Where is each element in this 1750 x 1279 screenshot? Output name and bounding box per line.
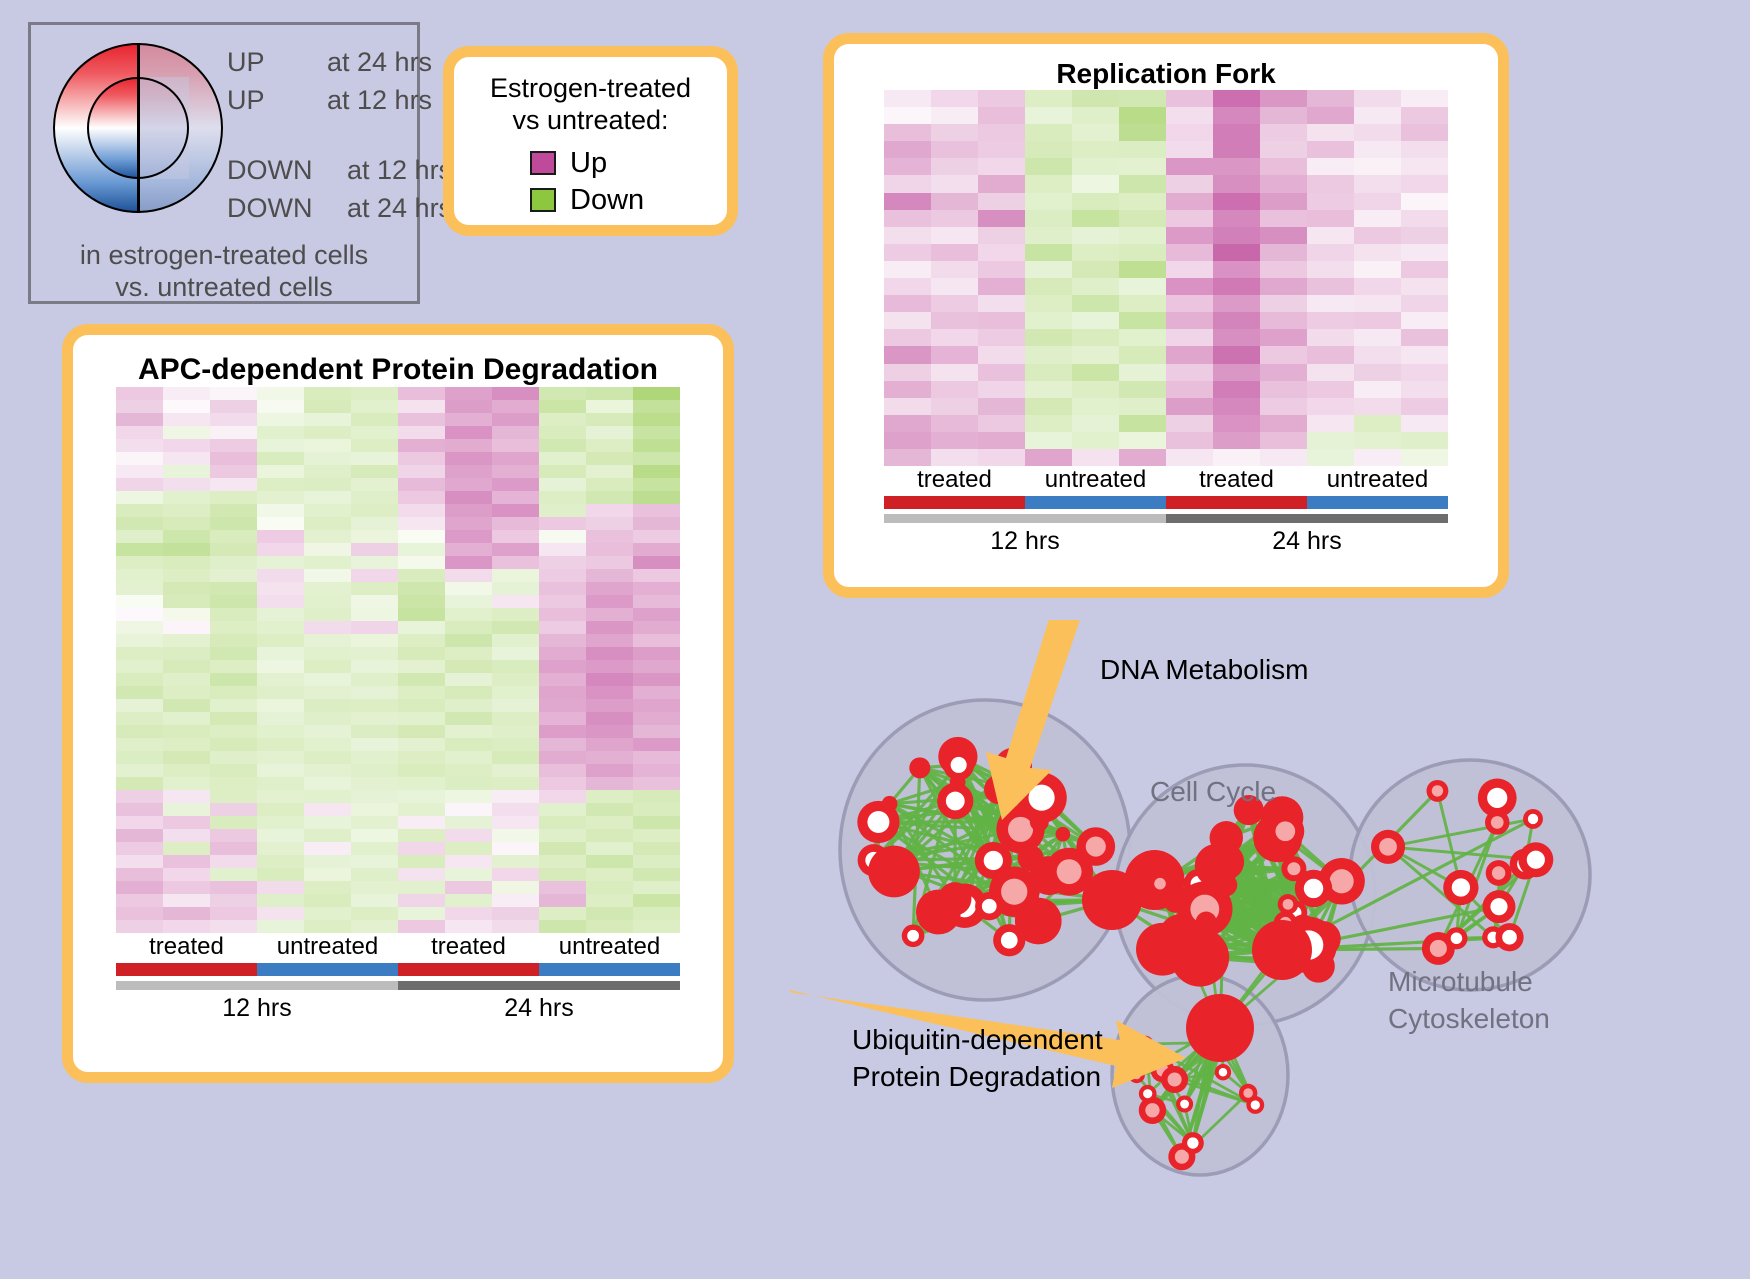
heatmap-cell — [351, 803, 398, 816]
heatmap-cell — [1307, 175, 1354, 192]
heatmap-cell — [304, 868, 351, 881]
heatmap-cell — [304, 764, 351, 777]
heatmap-cell — [257, 751, 304, 764]
heatmap-cell — [931, 364, 978, 381]
replication-fork-heatmap — [884, 90, 1448, 466]
heatmap-cell — [304, 387, 351, 400]
treatment-bar-row — [116, 963, 680, 976]
heatmap-cell — [351, 634, 398, 647]
heatmap-cell — [1072, 141, 1119, 158]
heatmap-cell — [210, 504, 257, 517]
heatmap-cell — [304, 400, 351, 413]
heatmap-cell — [1119, 261, 1166, 278]
legend-direction-0: UP — [227, 47, 265, 78]
heatmap-cell — [210, 660, 257, 673]
heatmap-cell — [1354, 107, 1401, 124]
pathway-network-diagram: DNA MetabolismCell CycleMicrotubuleCytos… — [790, 620, 1750, 1279]
heatmap-cell — [1307, 415, 1354, 432]
heatmap-cell — [1401, 175, 1448, 192]
heatmap-cell — [1025, 449, 1072, 466]
network-node-center — [1527, 851, 1545, 869]
heatmap-cell — [1213, 158, 1260, 175]
heatmap-cell — [1354, 158, 1401, 175]
heatmap-cell — [492, 738, 539, 751]
network-cluster-label: Cell Cycle — [1150, 775, 1276, 809]
heatmap-cell — [163, 426, 210, 439]
heatmap-cell — [539, 920, 586, 933]
timepoint-label-row: 12 hrs24 hrs — [116, 994, 680, 1023]
heatmap-cell — [1166, 141, 1213, 158]
heatmap-cell — [492, 855, 539, 868]
heatmap-cell — [398, 426, 445, 439]
heatmap-cell — [351, 439, 398, 452]
heatmap-cell — [633, 751, 680, 764]
heatmap-cell — [398, 413, 445, 426]
heatmap-cell — [1260, 329, 1307, 346]
heatmap-cell — [210, 842, 257, 855]
network-node[interactable] — [1252, 920, 1312, 980]
heatmap-cell — [539, 673, 586, 686]
heatmap-cell — [163, 504, 210, 517]
group-label-row: treateduntreatedtreateduntreated — [884, 466, 1448, 494]
heatmap-cell — [633, 556, 680, 569]
heatmap-cell — [1354, 90, 1401, 107]
heatmap-cell — [884, 90, 931, 107]
heatmap-cell — [116, 725, 163, 738]
heatmap-cell — [304, 673, 351, 686]
heatmap-cell — [116, 621, 163, 634]
heatmap-cell — [1166, 312, 1213, 329]
apc-axis: treateduntreatedtreateduntreated12 hrs24… — [116, 933, 680, 1023]
heatmap-cell — [1401, 141, 1448, 158]
heatmap-cell — [304, 569, 351, 582]
heatmap-cell — [351, 725, 398, 738]
timepoint-bar — [116, 981, 398, 990]
heatmap-cell — [304, 790, 351, 803]
heatmap-cell — [210, 582, 257, 595]
network-node[interactable] — [1018, 845, 1044, 871]
heatmap-cell — [1260, 210, 1307, 227]
heatmap-cell — [1260, 124, 1307, 141]
heatmap-cell — [116, 556, 163, 569]
heatmap-cell — [116, 543, 163, 556]
heatmap-cell — [257, 712, 304, 725]
heatmap-cell — [978, 124, 1025, 141]
heatmap-cell — [931, 90, 978, 107]
network-node-center — [982, 899, 997, 914]
heatmap-cell — [304, 907, 351, 920]
network-node[interactable] — [1201, 859, 1225, 883]
heatmap-cell — [445, 725, 492, 738]
heatmap-cell — [398, 387, 445, 400]
heatmap-cell — [304, 699, 351, 712]
heatmap-cell — [445, 920, 492, 933]
heatmap-cell — [210, 894, 257, 907]
heatmap-cell — [978, 415, 1025, 432]
heatmap-cell — [492, 790, 539, 803]
network-node-center — [1491, 816, 1504, 829]
heatmap-cell — [210, 569, 257, 582]
heatmap-cell — [398, 621, 445, 634]
heatmap-cell — [586, 868, 633, 881]
heatmap-cell — [257, 543, 304, 556]
heatmap-cell — [351, 764, 398, 777]
heatmap-cell — [210, 413, 257, 426]
heatmap-cell — [978, 193, 1025, 210]
heatmap-cell — [1354, 295, 1401, 312]
heatmap-cell — [539, 413, 586, 426]
heatmap-cell — [1260, 261, 1307, 278]
key-item-down: Down — [530, 184, 727, 217]
heatmap-cell — [304, 504, 351, 517]
replication-fork-panel: Replication Fork treateduntreatedtreated… — [823, 33, 1509, 598]
heatmap-cell — [398, 569, 445, 582]
heatmap-cell — [978, 278, 1025, 295]
heatmap-cell — [1213, 175, 1260, 192]
heatmap-cell — [445, 660, 492, 673]
up-down-key-panel: Estrogen-treated vs untreated: Up Down — [443, 46, 738, 236]
heatmap-cell — [492, 439, 539, 452]
heatmap-cell — [163, 413, 210, 426]
heatmap-cell — [163, 400, 210, 413]
heatmap-cell — [586, 595, 633, 608]
heatmap-cell — [586, 907, 633, 920]
network-node-center — [1180, 1100, 1189, 1109]
heatmap-cell — [492, 465, 539, 478]
heatmap-cell — [351, 894, 398, 907]
heatmap-cell — [633, 855, 680, 868]
heatmap-cell — [931, 449, 978, 466]
heatmap-cell — [163, 660, 210, 673]
heatmap-cell — [884, 432, 931, 449]
heatmap-cell — [351, 387, 398, 400]
heatmap-cell — [445, 790, 492, 803]
heatmap-cell — [978, 364, 1025, 381]
heatmap-cell — [257, 764, 304, 777]
network-node-center — [1219, 1068, 1227, 1076]
heatmap-cell — [445, 738, 492, 751]
heatmap-cell — [492, 868, 539, 881]
legend-direction-3: DOWN — [227, 193, 312, 224]
heatmap-cell — [304, 634, 351, 647]
heatmap-cell — [1307, 449, 1354, 466]
heatmap-cell — [210, 712, 257, 725]
heatmap-cell — [633, 920, 680, 933]
group-label: treated — [116, 933, 257, 961]
heatmap-cell — [1072, 175, 1119, 192]
heatmap-cell — [633, 868, 680, 881]
network-node[interactable] — [1082, 870, 1142, 930]
heatmap-cell — [1401, 381, 1448, 398]
heatmap-cell — [116, 920, 163, 933]
heatmap-cell — [1354, 261, 1401, 278]
heatmap-cell — [304, 855, 351, 868]
network-node[interactable] — [1186, 994, 1254, 1062]
heatmap-cell — [351, 595, 398, 608]
heatmap-cell — [351, 582, 398, 595]
heatmap-cell — [445, 595, 492, 608]
heatmap-cell — [116, 829, 163, 842]
heatmap-cell — [1166, 329, 1213, 346]
heatmap-cell — [116, 738, 163, 751]
heatmap-cell — [445, 439, 492, 452]
heatmap-cell — [1072, 210, 1119, 227]
heatmap-cell — [492, 491, 539, 504]
heatmap-cell — [1401, 227, 1448, 244]
heatmap-cell — [163, 920, 210, 933]
heatmap-cell — [1354, 210, 1401, 227]
heatmap-cell — [445, 816, 492, 829]
heatmap-cell — [1119, 449, 1166, 466]
heatmap-cell — [1119, 415, 1166, 432]
heatmap-cell — [539, 439, 586, 452]
heatmap-cell — [398, 894, 445, 907]
heatmap-cell — [1307, 329, 1354, 346]
heatmap-cell — [257, 842, 304, 855]
heatmap-cell — [492, 829, 539, 842]
network-node-center — [1001, 932, 1018, 949]
heatmap-cell — [163, 816, 210, 829]
heatmap-cell — [445, 686, 492, 699]
heatmap-cell — [398, 829, 445, 842]
heatmap-cell — [351, 465, 398, 478]
up-color-swatch — [530, 151, 556, 175]
heatmap-cell — [633, 465, 680, 478]
heatmap-cell — [931, 244, 978, 261]
network-node-center — [1432, 785, 1443, 796]
heatmap-cell — [978, 141, 1025, 158]
heatmap-cell — [445, 621, 492, 634]
heatmap-cell — [257, 777, 304, 790]
heatmap-cell — [633, 634, 680, 647]
heatmap-cell — [1354, 432, 1401, 449]
heatmap-cell — [586, 530, 633, 543]
heatmap-cell — [116, 868, 163, 881]
heatmap-cell — [492, 413, 539, 426]
heatmap-cell — [1307, 124, 1354, 141]
heatmap-cell — [445, 803, 492, 816]
heatmap-cell — [492, 647, 539, 660]
heatmap-cell — [257, 634, 304, 647]
heatmap-cell — [210, 777, 257, 790]
heatmap-cell — [210, 452, 257, 465]
key-item-up: Up — [530, 147, 727, 180]
heatmap-cell — [304, 582, 351, 595]
heatmap-cell — [163, 907, 210, 920]
heatmap-cell — [586, 894, 633, 907]
heatmap-cell — [163, 686, 210, 699]
heatmap-cell — [1166, 90, 1213, 107]
heatmap-cell — [978, 158, 1025, 175]
heatmap-cell — [351, 920, 398, 933]
heatmap-cell — [586, 686, 633, 699]
heatmap-cell — [539, 881, 586, 894]
heatmap-cell — [163, 595, 210, 608]
heatmap-cell — [1260, 175, 1307, 192]
heatmap-cell — [398, 686, 445, 699]
heatmap-cell — [304, 465, 351, 478]
group-label: untreated — [1307, 466, 1448, 494]
heatmap-cell — [492, 920, 539, 933]
heatmap-cell — [586, 439, 633, 452]
heatmap-cell — [1072, 346, 1119, 363]
heatmap-cell — [1354, 364, 1401, 381]
heatmap-cell — [257, 530, 304, 543]
heatmap-cell — [1166, 295, 1213, 312]
heatmap-cell — [210, 595, 257, 608]
heatmap-cell — [586, 621, 633, 634]
heatmap-cell — [492, 569, 539, 582]
heatmap-cell — [1354, 329, 1401, 346]
heatmap-cell — [351, 556, 398, 569]
heatmap-cell — [1213, 210, 1260, 227]
heatmap-cell — [1166, 124, 1213, 141]
heatmap-cell — [257, 660, 304, 673]
heatmap-cell — [586, 764, 633, 777]
heatmap-cell — [1119, 295, 1166, 312]
heatmap-cell — [445, 504, 492, 517]
heatmap-cell — [1307, 158, 1354, 175]
heatmap-cell — [210, 751, 257, 764]
heatmap-cell — [1213, 449, 1260, 466]
heatmap-cell — [931, 210, 978, 227]
heatmap-cell — [633, 595, 680, 608]
heatmap-cell — [1166, 398, 1213, 415]
heatmap-cell — [1354, 449, 1401, 466]
heatmap-cell — [1072, 312, 1119, 329]
network-node[interactable] — [909, 757, 930, 778]
heatmap-cell — [884, 295, 931, 312]
heatmap-cell — [445, 517, 492, 530]
heatmap-cell — [1260, 158, 1307, 175]
heatmap-cell — [116, 764, 163, 777]
heatmap-cell — [492, 699, 539, 712]
heatmap-cell — [633, 777, 680, 790]
heatmap-cell — [539, 491, 586, 504]
heatmap-cell — [884, 175, 931, 192]
heatmap-cell — [1166, 381, 1213, 398]
heatmap-cell — [163, 634, 210, 647]
heatmap-cell — [210, 530, 257, 543]
legend-direction-1: UP — [227, 85, 265, 116]
heatmap-cell — [1025, 329, 1072, 346]
heatmap-cell — [210, 478, 257, 491]
key-item-list: Up Down — [454, 147, 727, 217]
heatmap-cell — [1307, 90, 1354, 107]
heatmap-cell — [1166, 107, 1213, 124]
network-node[interactable] — [938, 882, 971, 915]
heatmap-cell — [304, 842, 351, 855]
heatmap-cell — [163, 556, 210, 569]
heatmap-cell — [1260, 449, 1307, 466]
heatmap-cell — [1025, 227, 1072, 244]
heatmap-cell — [304, 621, 351, 634]
heatmap-cell — [1307, 364, 1354, 381]
heatmap-cell — [633, 543, 680, 556]
heatmap-cell — [492, 621, 539, 634]
network-node[interactable] — [868, 846, 920, 898]
heatmap-cell — [398, 491, 445, 504]
timepoint-label: 24 hrs — [1166, 527, 1448, 556]
heatmap-cell — [1072, 278, 1119, 295]
heatmap-cell — [633, 647, 680, 660]
heatmap-cell — [1307, 432, 1354, 449]
heatmap-cell — [586, 660, 633, 673]
network-node-center — [1528, 814, 1538, 824]
network-node[interactable] — [1196, 912, 1217, 933]
heatmap-cell — [1307, 141, 1354, 158]
heatmap-cell — [304, 725, 351, 738]
heatmap-cell — [116, 673, 163, 686]
heatmap-cell — [633, 738, 680, 751]
heatmap-cell — [633, 491, 680, 504]
timepoint-bar — [398, 981, 680, 990]
heatmap-cell — [304, 426, 351, 439]
legend-time-0: at 24 hrs — [327, 47, 432, 78]
heatmap-cell — [398, 660, 445, 673]
heatmap-cell — [978, 244, 1025, 261]
network-node[interactable] — [1056, 827, 1071, 842]
heatmap-cell — [210, 920, 257, 933]
heatmap-cell — [398, 400, 445, 413]
heatmap-cell — [116, 634, 163, 647]
heatmap-cell — [116, 686, 163, 699]
heatmap-cell — [633, 439, 680, 452]
legend-gradient-circle — [53, 43, 223, 213]
heatmap-cell — [304, 816, 351, 829]
network-node-center — [1145, 1103, 1159, 1117]
heatmap-cell — [1401, 210, 1448, 227]
heatmap-cell — [257, 725, 304, 738]
heatmap-cell — [1166, 449, 1213, 466]
heatmap-cell — [633, 478, 680, 491]
heatmap-cell — [1307, 295, 1354, 312]
heatmap-cell — [539, 829, 586, 842]
treatment-bar — [116, 963, 257, 976]
heatmap-cell — [210, 803, 257, 816]
heatmap-cell — [1260, 278, 1307, 295]
heatmap-cell — [163, 582, 210, 595]
heatmap-cell — [633, 699, 680, 712]
network-node[interactable] — [1136, 923, 1189, 976]
heatmap-cell — [1025, 312, 1072, 329]
heatmap-cell — [539, 478, 586, 491]
heatmap-cell — [398, 790, 445, 803]
heatmap-cell — [257, 465, 304, 478]
heatmap-cell — [1354, 415, 1401, 432]
heatmap-cell — [1401, 90, 1448, 107]
heatmap-cell — [116, 855, 163, 868]
network-node-center — [1487, 788, 1507, 808]
network-node[interactable] — [882, 796, 898, 812]
heatmap-cell — [633, 400, 680, 413]
heatmap-cell — [1260, 415, 1307, 432]
heatmap-cell — [586, 842, 633, 855]
heatmap-cell — [1354, 124, 1401, 141]
heatmap-cell — [1401, 346, 1448, 363]
heatmap-cell — [492, 556, 539, 569]
group-label: treated — [398, 933, 539, 961]
heatmap-cell — [1072, 398, 1119, 415]
heatmap-cell — [257, 621, 304, 634]
heatmap-cell — [492, 907, 539, 920]
heatmap-cell — [633, 894, 680, 907]
network-node[interactable] — [1162, 883, 1187, 908]
heatmap-cell — [1401, 312, 1448, 329]
heatmap-cell — [931, 312, 978, 329]
heatmap-cell — [116, 478, 163, 491]
heatmap-cell — [586, 816, 633, 829]
